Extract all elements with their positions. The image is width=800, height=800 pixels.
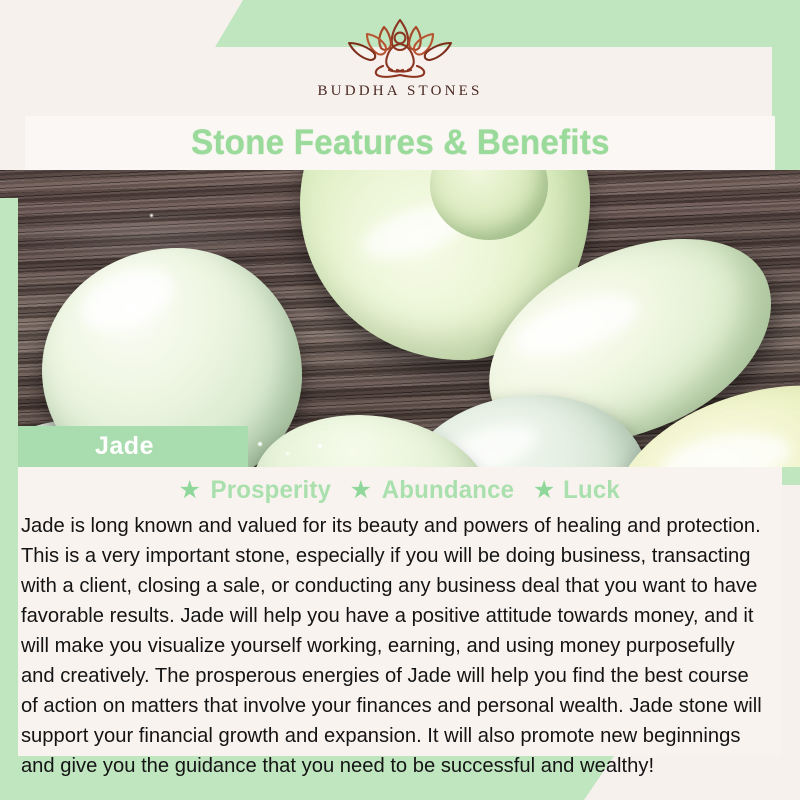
brand-logo: BUDDHA STONES: [0, 14, 800, 100]
benefits-row: ★ Prosperity ★ Abundance ★ Luck: [18, 467, 782, 505]
benefit-label: Luck: [564, 476, 621, 505]
sparkle: [258, 442, 262, 446]
star-icon: ★: [178, 478, 200, 503]
decor-left-green-strip: [0, 198, 18, 800]
star-icon: ★: [533, 478, 555, 503]
stone-photo: [0, 170, 800, 467]
star-icon: ★: [350, 478, 372, 503]
stone-name-band: Jade: [18, 426, 248, 467]
sparkle: [286, 452, 289, 455]
sparkle: [150, 214, 153, 217]
infographic-page: BUDDHA STONES Stone Features & Benefits …: [0, 0, 800, 800]
content-panel: ★ Prosperity ★ Abundance ★ Luck Jade is …: [18, 467, 782, 756]
stone-name: Jade: [95, 432, 154, 461]
lotus-meditation-icon: [339, 14, 461, 80]
benefit-label: Prosperity: [210, 476, 331, 505]
stone-description: Jade is long known and valued for its be…: [18, 511, 771, 781]
benefit-label: Abundance: [382, 476, 514, 505]
page-title-band: Stone Features & Benefits: [25, 116, 775, 170]
brand-name: BUDDHA STONES: [317, 83, 482, 100]
sparkle: [318, 444, 322, 448]
benefit-item: ★ Prosperity: [178, 476, 333, 505]
page-title: Stone Features & Benefits: [191, 123, 610, 163]
benefit-item: ★ Abundance: [350, 476, 517, 505]
benefit-item: ★ Luck: [533, 476, 622, 505]
